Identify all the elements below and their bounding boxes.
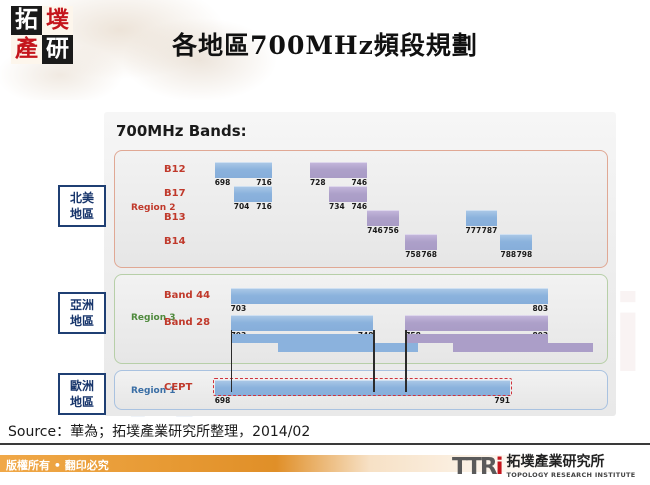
band-segment-band-28-758 [405,315,548,331]
bands-panel: 700MHz Bands: Region 2 Region 3 Region 1… [104,112,616,416]
tick-label-803: 803 [530,304,548,313]
band-segment-b12-698 [215,162,272,178]
tri-logo-chinese: 拓墣產業研究所 [507,455,636,469]
cept-highlight-box [213,378,512,396]
tag-line-2: 地區 [60,394,104,410]
region-tag-asia: 亞洲 地區 [58,292,106,334]
connector-line-703 [231,330,232,392]
page-title: 各地區700MHz頻段規劃 [0,26,650,62]
footer-divider [0,443,650,445]
connector-line-748 [373,330,374,392]
tick-label-716: 716 [254,202,272,211]
tag-line-1: 北美 [60,190,104,206]
band-segment-b17-734 [329,186,367,202]
tick-label-734: 734 [329,202,345,211]
band-segment-band-28-703 [231,315,374,331]
tick-label-728: 728 [310,178,326,187]
region-tag-europe: 歐洲 地區 [58,373,106,415]
tick-label-698: 698 [215,396,231,405]
tick-label-798: 798 [514,250,532,259]
tag-line-1: 亞洲 [60,297,104,313]
tick-label-791: 791 [492,396,510,405]
band-segment-b17-704 [234,186,272,202]
band-segment-b13-746 [367,210,399,226]
tri-footer-logo: TTRi 拓墣產業研究所 TOPOLOGY RESEARCH INSTITUTE [452,455,636,479]
tick-label-746: 746 [349,202,367,211]
source-note: Source：華為；拓墣產業研究所整理，2014/02 [8,421,310,441]
decorative-step-1 [278,343,418,352]
copyright-bar: 版權所有 • 翻印必究 [0,455,276,472]
band-label-b14: B14 [164,236,186,247]
tag-line-2: 地區 [60,313,104,329]
band-segment-b14-788 [500,234,532,250]
decorative-step-0 [231,334,374,343]
band-label-cept: CEPT [164,382,192,393]
region-tag-north-america: 北美 地區 [58,185,106,227]
decorative-step-3 [453,343,593,352]
decorative-step-2 [405,334,548,343]
tri-logo-text: 拓墣產業研究所 TOPOLOGY RESEARCH INSTITUTE [507,455,636,479]
band-segment-b14-758 [405,234,437,250]
tick-label-787: 787 [479,226,497,235]
band-label-band-44: Band 44 [164,290,210,301]
tick-label-756: 756 [381,226,399,235]
tick-label-768: 768 [419,250,437,259]
band-segment-b13-777 [466,210,498,226]
band-label-b17: B17 [164,188,186,199]
tri-logo-dot: i [496,454,502,480]
band-label-b12: B12 [164,164,186,175]
band-segment-b12-728 [310,162,367,178]
band-segment-band-44-703 [231,288,549,304]
band-label-b13: B13 [164,212,186,223]
tag-line-2: 地區 [60,206,104,222]
tick-label-698: 698 [215,178,231,187]
panel-title: 700MHz Bands: [116,122,247,140]
connector-line-758 [405,330,406,392]
tri-logo-english: TOPOLOGY RESEARCH INSTITUTE [507,471,636,479]
tri-logo-mark: TTRi [452,456,502,479]
band-label-band-28: Band 28 [164,317,210,328]
tag-line-1: 歐洲 [60,378,104,394]
copyright-text: 版權所有 • 翻印必究 [6,457,109,473]
tick-label-703: 703 [231,304,247,313]
tick-label-704: 704 [234,202,250,211]
